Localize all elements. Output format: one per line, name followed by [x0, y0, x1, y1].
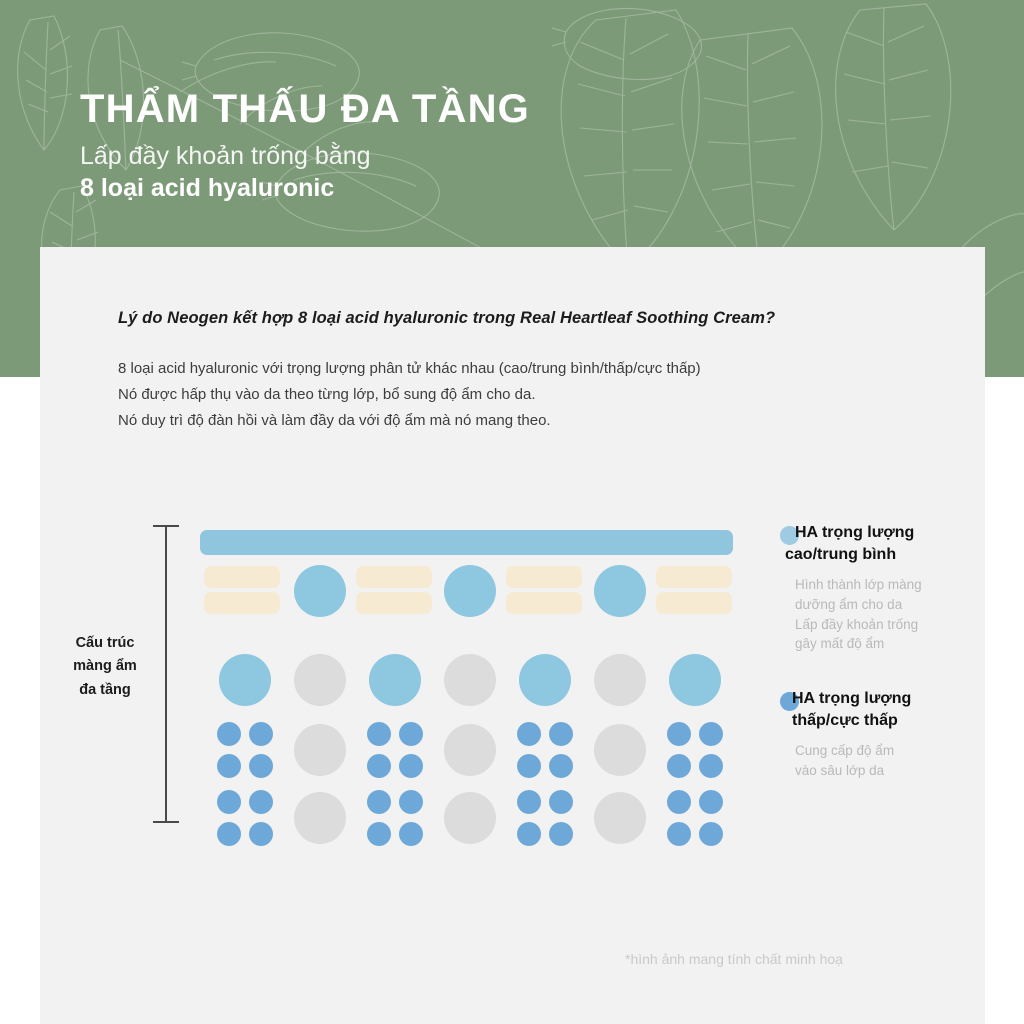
empty-space-circle: [294, 654, 346, 706]
footnote: *hình ảnh mang tính chất minh hoạ: [625, 951, 955, 967]
empty-space-circle: [294, 792, 346, 844]
brick-block: [656, 566, 732, 588]
brick-block: [204, 566, 280, 588]
ha-high-circle: [519, 654, 571, 706]
ha-low-cluster: [367, 790, 423, 846]
legend-desc-high-line-2: dưỡng ẩm cho da: [795, 595, 985, 615]
ha-low-cluster: [217, 790, 273, 846]
skin-layer-diagram: Cấu trúc màng ẩm đa tầng: [40, 247, 985, 1024]
ha-low-cluster: [367, 722, 423, 778]
legend-desc-low-line-1: Cung cấp độ ẩm: [795, 741, 985, 761]
bracket-cap-bottom: [153, 821, 179, 823]
legend-desc-high-line-1: Hình thành lớp màng: [795, 575, 985, 595]
legend: HA trọng lượng cao/trung bình Hình thành…: [780, 522, 985, 811]
structure-label-line-2: màng ẩm: [60, 655, 150, 678]
legend-desc-high-line-4: gây mất độ ẩm: [795, 634, 985, 654]
ha-low-cluster: [667, 722, 723, 778]
brick-block: [656, 592, 732, 614]
empty-space-circle: [294, 724, 346, 776]
content-card: Lý do Neogen kết hợp 8 loại acid hyaluro…: [40, 247, 985, 1024]
ha-high-circle: [669, 654, 721, 706]
ha-low-cluster: [217, 722, 273, 778]
hero-subtitle-line-2: 8 loại acid hyaluronic: [80, 172, 530, 204]
empty-space-circle: [594, 792, 646, 844]
legend-title-high-line-2: cao/trung bình: [785, 544, 985, 566]
moisture-film-bar: [200, 530, 733, 555]
empty-space-circle: [444, 654, 496, 706]
legend-title-high-line-1: HA trọng lượng: [790, 522, 985, 544]
ha-high-circle: [369, 654, 421, 706]
legend-item-low-ha: HA trọng lượng thấp/cực thấp Cung cấp độ…: [780, 688, 985, 781]
structure-label-line-1: Cấu trúc: [60, 632, 150, 655]
ha-high-circle: [594, 565, 646, 617]
brick-block: [506, 592, 582, 614]
empty-space-circle: [594, 654, 646, 706]
legend-title-low-line-2: thấp/cực thấp: [792, 710, 985, 732]
brick-block: [356, 566, 432, 588]
page-title: THẨM THẤU ĐA TẦNG: [80, 88, 530, 130]
structure-bracket: [153, 525, 179, 823]
ha-high-circle: [444, 565, 496, 617]
empty-space-circle: [594, 724, 646, 776]
empty-space-circle: [444, 724, 496, 776]
ha-low-cluster: [517, 722, 573, 778]
hero-text-group: THẨM THẤU ĐA TẦNG Lấp đầy khoản trống bằ…: [80, 88, 530, 204]
legend-item-high-ha: HA trọng lượng cao/trung bình Hình thành…: [780, 522, 985, 654]
ha-low-cluster: [517, 790, 573, 846]
structure-label: Cấu trúc màng ẩm đa tầng: [60, 632, 150, 702]
brick-block: [356, 592, 432, 614]
ha-low-cluster: [667, 790, 723, 846]
structure-label-line-3: đa tầng: [60, 679, 150, 702]
hero-subtitle-line-1: Lấp đầy khoản trống bằng: [80, 140, 530, 172]
empty-space-circle: [444, 792, 496, 844]
brick-block: [506, 566, 582, 588]
brick-block: [204, 592, 280, 614]
legend-title-low-line-1: HA trọng lượng: [792, 688, 985, 710]
legend-desc-high-line-3: Lấp đầy khoản trống: [795, 615, 985, 635]
bracket-stem: [165, 525, 167, 823]
ha-high-circle: [294, 565, 346, 617]
ha-high-circle: [219, 654, 271, 706]
legend-desc-low-line-2: vào sâu lớp da: [795, 761, 985, 781]
diagram-stage: [200, 522, 745, 827]
